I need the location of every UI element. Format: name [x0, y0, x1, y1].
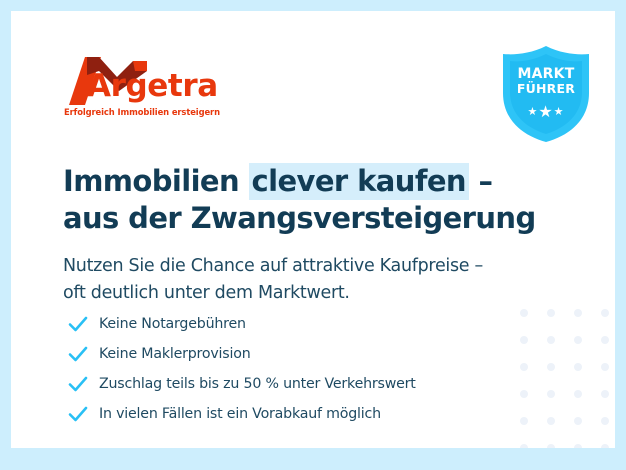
- star-icon-center: ★: [538, 104, 553, 121]
- subheading-line2: oft deutlich unter dem Marktwert.: [63, 283, 350, 303]
- logo-tagline: Erfolgreich Immobilien ersteigern: [64, 107, 220, 117]
- decorative-dot: [574, 390, 582, 398]
- argetra-logo: Argetra Erfolgreich Immobilien ersteiger…: [63, 55, 263, 121]
- check-icon: [67, 403, 89, 425]
- badge-line-2: FÜHRER: [500, 82, 592, 95]
- list-item-label: In vielen Fällen ist ein Vorabkauf mögli…: [99, 406, 381, 422]
- benefit-list: Keine Notargebühren Keine Maklerprovisio…: [67, 309, 537, 429]
- list-item-label: Keine Maklerprovision: [99, 346, 251, 362]
- decorative-dot: [601, 336, 609, 344]
- list-item: Keine Maklerprovision: [67, 339, 537, 369]
- check-icon: [67, 343, 89, 365]
- decorative-dot: [547, 390, 555, 398]
- decorative-dot: [601, 363, 609, 371]
- subheading-line1: Nutzen Sie die Chance auf attraktive Kau…: [63, 256, 483, 276]
- decorative-dot: [601, 309, 609, 317]
- subheading: Nutzen Sie die Chance auf attraktive Kau…: [63, 253, 563, 307]
- banner-card: Argetra Erfolgreich Immobilien ersteiger…: [11, 11, 615, 448]
- headline-line1-pre: Immobilien: [63, 164, 249, 198]
- decorative-dot: [574, 309, 582, 317]
- headline-line1-post: –: [469, 164, 492, 198]
- market-leader-badge: MARKT FÜHRER ★★★: [500, 45, 592, 143]
- decorative-dot: [574, 444, 582, 448]
- star-icon-right: ★: [554, 106, 565, 118]
- decorative-dot: [547, 444, 555, 448]
- decorative-dot: [520, 444, 528, 448]
- headline: Immobilien clever kaufen – aus der Zwang…: [63, 163, 583, 237]
- decorative-dot: [547, 363, 555, 371]
- decorative-dot: [574, 336, 582, 344]
- badge-text: MARKT FÜHRER: [500, 67, 592, 95]
- decorative-dot: [547, 417, 555, 425]
- badge-stars: ★★★: [500, 105, 592, 121]
- decorative-dot: [601, 444, 609, 448]
- decorative-dot: [601, 390, 609, 398]
- list-item: Keine Notargebühren: [67, 309, 537, 339]
- headline-line2: aus der Zwangsversteigerung: [63, 201, 536, 235]
- list-item: In vielen Fällen ist ein Vorabkauf mögli…: [67, 399, 537, 429]
- decorative-dot: [547, 336, 555, 344]
- decorative-dot: [574, 417, 582, 425]
- decorative-dot: [574, 363, 582, 371]
- list-item-label: Zuschlag teils bis zu 50 % unter Verkehr…: [99, 376, 416, 392]
- check-icon: [67, 373, 89, 395]
- decorative-dot: [601, 417, 609, 425]
- check-icon: [67, 313, 89, 335]
- badge-line-1: MARKT: [500, 67, 592, 82]
- decorative-dot: [547, 309, 555, 317]
- list-item: Zuschlag teils bis zu 50 % unter Verkehr…: [67, 369, 537, 399]
- logo-wordmark: Argetra: [87, 71, 218, 102]
- headline-highlight: clever kaufen: [249, 163, 469, 200]
- star-icon-left: ★: [527, 106, 538, 118]
- promo-banner: Argetra Erfolgreich Immobilien ersteiger…: [0, 0, 626, 470]
- list-item-label: Keine Notargebühren: [99, 316, 246, 332]
